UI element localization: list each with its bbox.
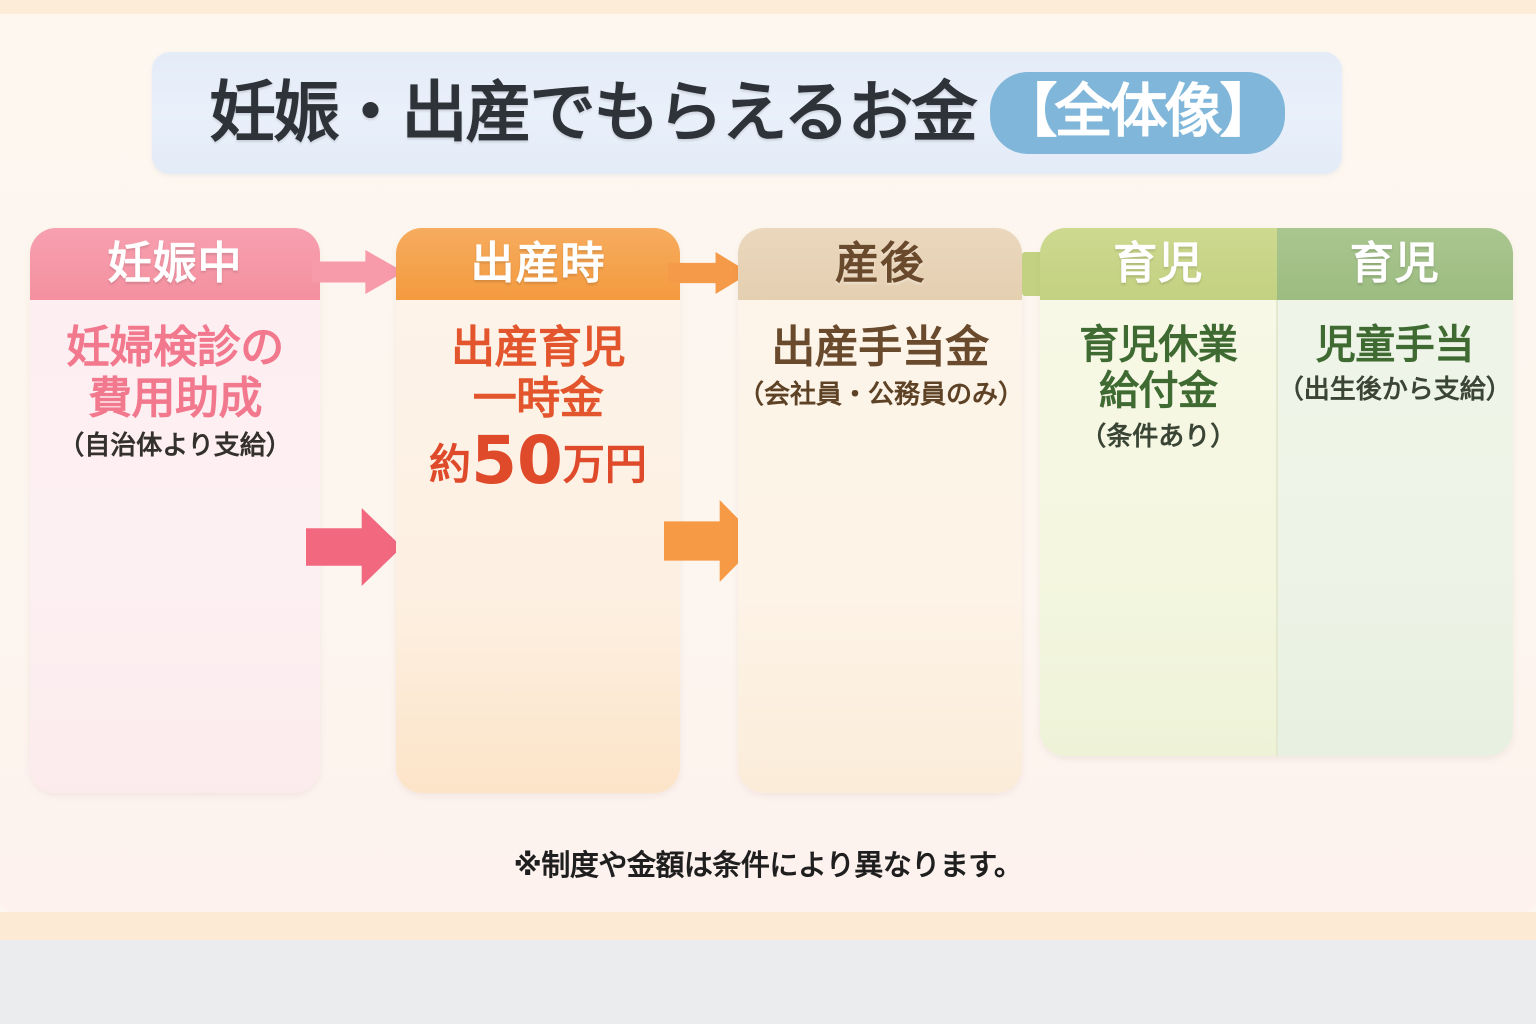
stage-card-child-allowance[interactable]: 育児 児童手当 （出生後から支給） [1277, 228, 1514, 756]
stage-header-childcare-leave: 育児 [1040, 228, 1277, 300]
stage-card-childcare-leave[interactable]: 育児 育児休業 給付金 （条件あり） [1040, 228, 1277, 756]
benefit-title: 妊婦検診の 費用助成 [66, 322, 284, 424]
top-accent-band [0, 0, 1536, 14]
stage-label: 出産時 [471, 242, 606, 286]
coupon-sheets-illustration: 補助券 [62, 778, 292, 793]
stage-body-childcare-leave: 育児休業 給付金 （条件あり） [1040, 300, 1277, 756]
benefit-subtitle: （出生後から支給） [1278, 376, 1512, 405]
stage-body-pregnancy: 妊婦検診の 費用助成 （自治体より支給） 補助券 [30, 300, 320, 793]
page-title: 妊娠・出産でもらえるお金 [209, 80, 975, 146]
benefit-title-line2: 給付金 [1079, 368, 1237, 414]
bottom-accent-band [0, 912, 1536, 940]
arrow-pregnancy-to-birth-header [312, 250, 404, 294]
benefit-title-line1: 出産育児 [451, 322, 625, 373]
benefit-title: 出産手当金 [771, 322, 989, 373]
arrow-pregnancy-to-birth-body [306, 508, 402, 586]
benefit-title-line2: 費用助成 [66, 373, 284, 424]
stage-card-pregnancy[interactable]: 妊娠中 妊婦検診の 費用助成 （自治体より支給） 補助券 [30, 228, 320, 793]
arrow-right-icon [312, 250, 404, 294]
stage-header-postpartum: 産後 [738, 228, 1022, 300]
page-title-panel: 妊娠・出産でもらえるお金 【全体像】 [152, 52, 1342, 174]
benefit-title-line2: 一時金 [451, 373, 625, 424]
disclaimer-note: ※制度や金額は条件により異なります。 [0, 842, 1536, 884]
amount-prefix: 約 [429, 440, 471, 489]
stage-label: 育児 [1350, 242, 1440, 286]
card-divider [1276, 300, 1278, 756]
title-badge: 【全体像】 [990, 72, 1285, 154]
stage-label: 妊娠中 [108, 242, 243, 286]
benefit-title-line1: 妊婦検診の [66, 322, 284, 373]
benefit-title: 児童手当 [1316, 322, 1474, 368]
amount-suffix: 万円 [563, 440, 647, 489]
benefit-subtitle: （条件あり） [1080, 423, 1236, 452]
benefit-title: 育児休業 給付金 [1079, 322, 1237, 415]
stage-header-child-allowance: 育児 [1277, 228, 1514, 300]
stage-label: 産後 [835, 242, 925, 286]
bottom-gray-band [0, 940, 1536, 1024]
stage-header-pregnancy: 妊娠中 [30, 228, 320, 300]
arrow-right-icon [306, 508, 402, 586]
benefit-subtitle: （会社員・公務員のみ） [738, 381, 1022, 410]
benefit-subtitle: （自治体より支給） [58, 432, 291, 461]
stage-body-birth: 出産育児 一時金 約50万円 [396, 300, 680, 793]
stage-card-birth[interactable]: 出産時 出産育児 一時金 約50万円 [396, 228, 680, 793]
stage-body-postpartum: 出産手当金 （会社員・公務員のみ） [738, 300, 1022, 793]
benefit-title: 出産育児 一時金 [451, 322, 625, 424]
stage-body-child-allowance: 児童手当 （出生後から支給） [1277, 300, 1514, 756]
benefit-amount: 約50万円 [429, 428, 647, 494]
stage-card-postpartum[interactable]: 産後 出産手当金 （会社員・公務員のみ） [738, 228, 1022, 793]
stage-card-childcare-group[interactable]: 育児 育児休業 給付金 （条件あり） [1040, 228, 1513, 756]
stage-label: 育児 [1113, 242, 1203, 286]
benefit-title-line1: 育児休業 [1079, 322, 1237, 368]
amount-value: 50 [471, 422, 563, 499]
infographic-canvas: 妊娠・出産でもらえるお金 【全体像】 妊娠中 妊婦検診の 費用助成 （自治体より… [0, 0, 1536, 1024]
stage-header-birth: 出産時 [396, 228, 680, 300]
